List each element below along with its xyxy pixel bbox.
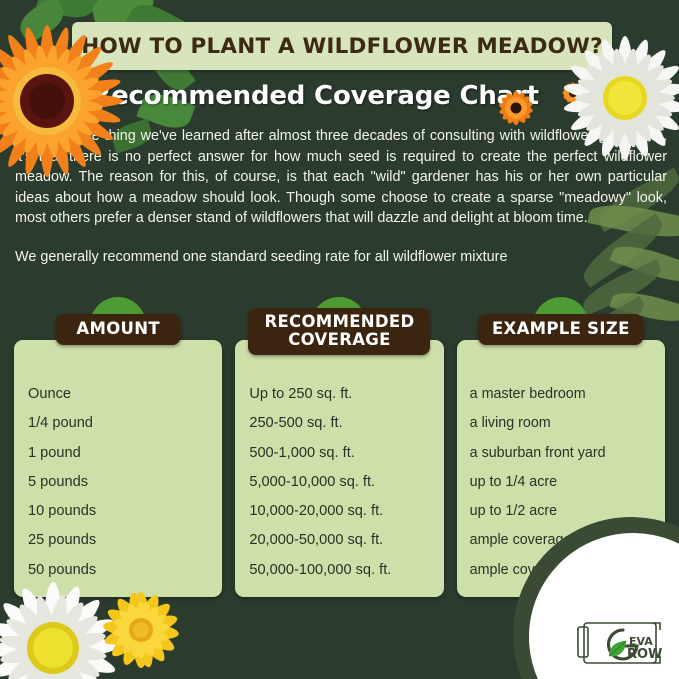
table-cell: 50,000-100,000 sq. ft. (249, 556, 429, 585)
infographic-poster: HOW TO PLANT A WILDFLOWER MEADOW? Recomm… (0, 0, 679, 679)
table-cell: a suburban front yard (470, 439, 659, 468)
body-copy: If there's one thing we've learned after… (15, 126, 667, 268)
column-cells-recommended-coverage: Up to 250 sq. ft. 250-500 sq. ft. 500-1,… (235, 380, 443, 585)
table-cell: up to 1/4 acre (470, 468, 659, 497)
column-cells-amount: Ounce 1/4 pound 1 pound 5 pounds 10 poun… (14, 380, 222, 585)
table-column-amount: AMOUNT Ounce 1/4 pound 1 pound 5 pounds … (14, 297, 222, 597)
column-header-label: EXAMPLE SIZE (492, 320, 630, 338)
eva-grow-logo[interactable]: EVA ROW (575, 613, 671, 673)
leaf-icon (14, 0, 70, 45)
title-banner: HOW TO PLANT A WILDFLOWER MEADOW? (72, 22, 612, 70)
logo-line-2: ROW (627, 647, 662, 662)
table-cell: 1 pound (28, 439, 208, 468)
subtitle-text: Recommended Coverage Chart (91, 81, 539, 111)
recommendation-note: We generally recommend one standard seed… (15, 247, 667, 268)
table-cell: 10 pounds (28, 497, 208, 526)
page-title: HOW TO PLANT A WILDFLOWER MEADOW? (81, 34, 603, 59)
column-header-example-size: EXAMPLE SIZE (478, 314, 644, 345)
orange-flower-icon (558, 78, 588, 115)
column-header-amount: AMOUNT (56, 314, 181, 345)
table-cell: 1/4 pound (28, 409, 208, 438)
table-column-recommended-coverage: RECOMMENDED COVERAGE Up to 250 sq. ft. 2… (235, 297, 443, 597)
table-cell: Ounce (28, 380, 208, 409)
subtitle-row: Recommended Coverage Chart (0, 78, 679, 115)
table-cell: a master bedroom (470, 380, 659, 409)
table-cell: 10,000-20,000 sq. ft. (249, 497, 429, 526)
table-cell: 20,000-50,000 sq. ft. (249, 526, 429, 555)
column-header-label: COVERAGE (264, 331, 414, 349)
table-cell: a living room (470, 409, 659, 438)
table-cell: 5 pounds (28, 468, 208, 497)
column-header-recommended-coverage: RECOMMENDED COVERAGE (248, 308, 430, 355)
table-cell: 250-500 sq. ft. (249, 409, 429, 438)
table-cell: Up to 250 sq. ft. (249, 380, 429, 409)
column-header-label: AMOUNT (70, 320, 167, 338)
table-cell: 25 pounds (28, 526, 208, 555)
table-cell: 500-1,000 sq. ft. (249, 439, 429, 468)
yellow-coreopsis-icon (96, 588, 186, 678)
table-cell: 50 pounds (28, 556, 208, 585)
intro-paragraph: If there's one thing we've learned after… (15, 126, 667, 229)
column-header-label: RECOMMENDED (264, 313, 414, 331)
table-cell: 5,000-10,000 sq. ft. (249, 468, 429, 497)
